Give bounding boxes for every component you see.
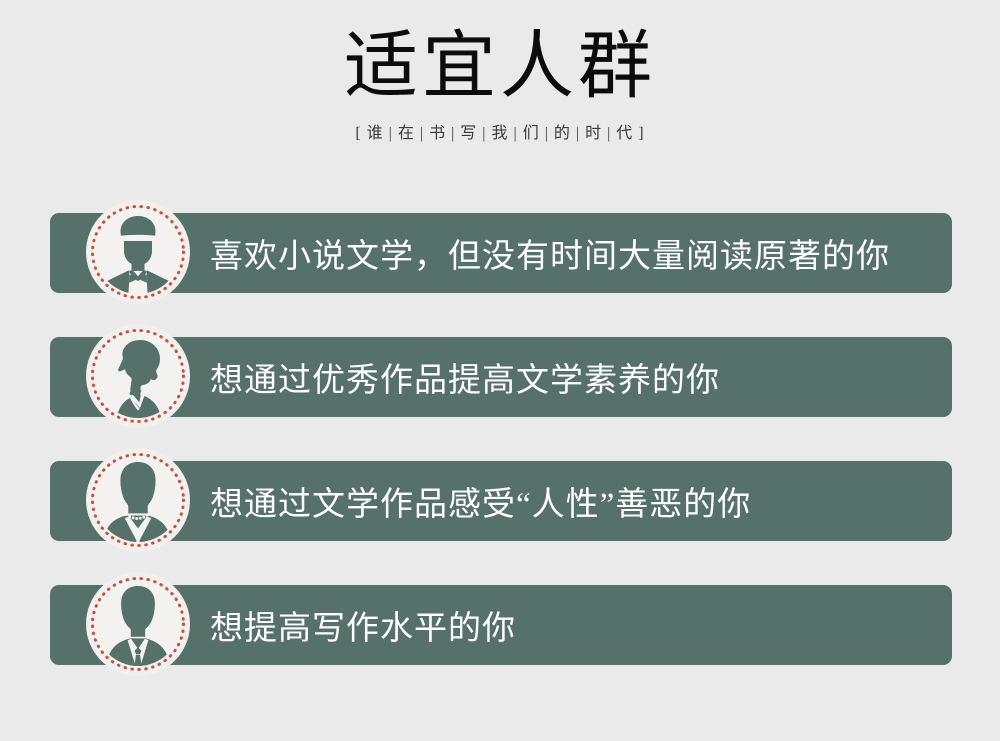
page-subtitle: [ 谁 | 在 | 书 | 写 | 我 | 们 | 的 | 时 | 代 ]: [0, 119, 1000, 143]
man-with-bowler-hat-and-bowtie-avatar-icon: [86, 200, 190, 304]
audience-label-2: 想通过优秀作品提高文学素养的你: [210, 337, 720, 417]
list-item[interactable]: 喜欢小说文学，但没有时间大量阅读原著的你: [0, 196, 1000, 320]
page-title: 适宜人群: [0, 30, 1000, 105]
page-root: { "page": { "background_color": "#eaeaea…: [0, 0, 1000, 741]
list-item[interactable]: 想通过文学作品感受“人性”善恶的你: [0, 444, 1000, 568]
list-item[interactable]: 想提高写作水平的你: [0, 568, 1000, 692]
audience-label-4: 想提高写作水平的你: [210, 585, 516, 665]
woman-with-updo-profile-avatar-icon: [86, 324, 190, 428]
audience-list: 喜欢小说文学，但没有时间大量阅读原著的你: [0, 196, 1000, 692]
woman-with-necklace-avatar-icon: [86, 448, 190, 552]
man-with-necktie-avatar-icon: [86, 572, 190, 676]
avatar-graphic-1: [86, 200, 190, 304]
list-item[interactable]: 想通过优秀作品提高文学素养的你: [0, 320, 1000, 444]
audience-label-1: 喜欢小说文学，但没有时间大量阅读原著的你: [210, 213, 890, 293]
avatar-graphic-2: [86, 324, 190, 428]
page-header: 适宜人群 [ 谁 | 在 | 书 | 写 | 我 | 们 | 的 | 时 | 代…: [0, 0, 1000, 143]
audience-label-3: 想通过文学作品感受“人性”善恶的你: [210, 461, 751, 541]
avatar-graphic-3: [86, 448, 190, 552]
avatar-graphic-4: [86, 572, 190, 676]
